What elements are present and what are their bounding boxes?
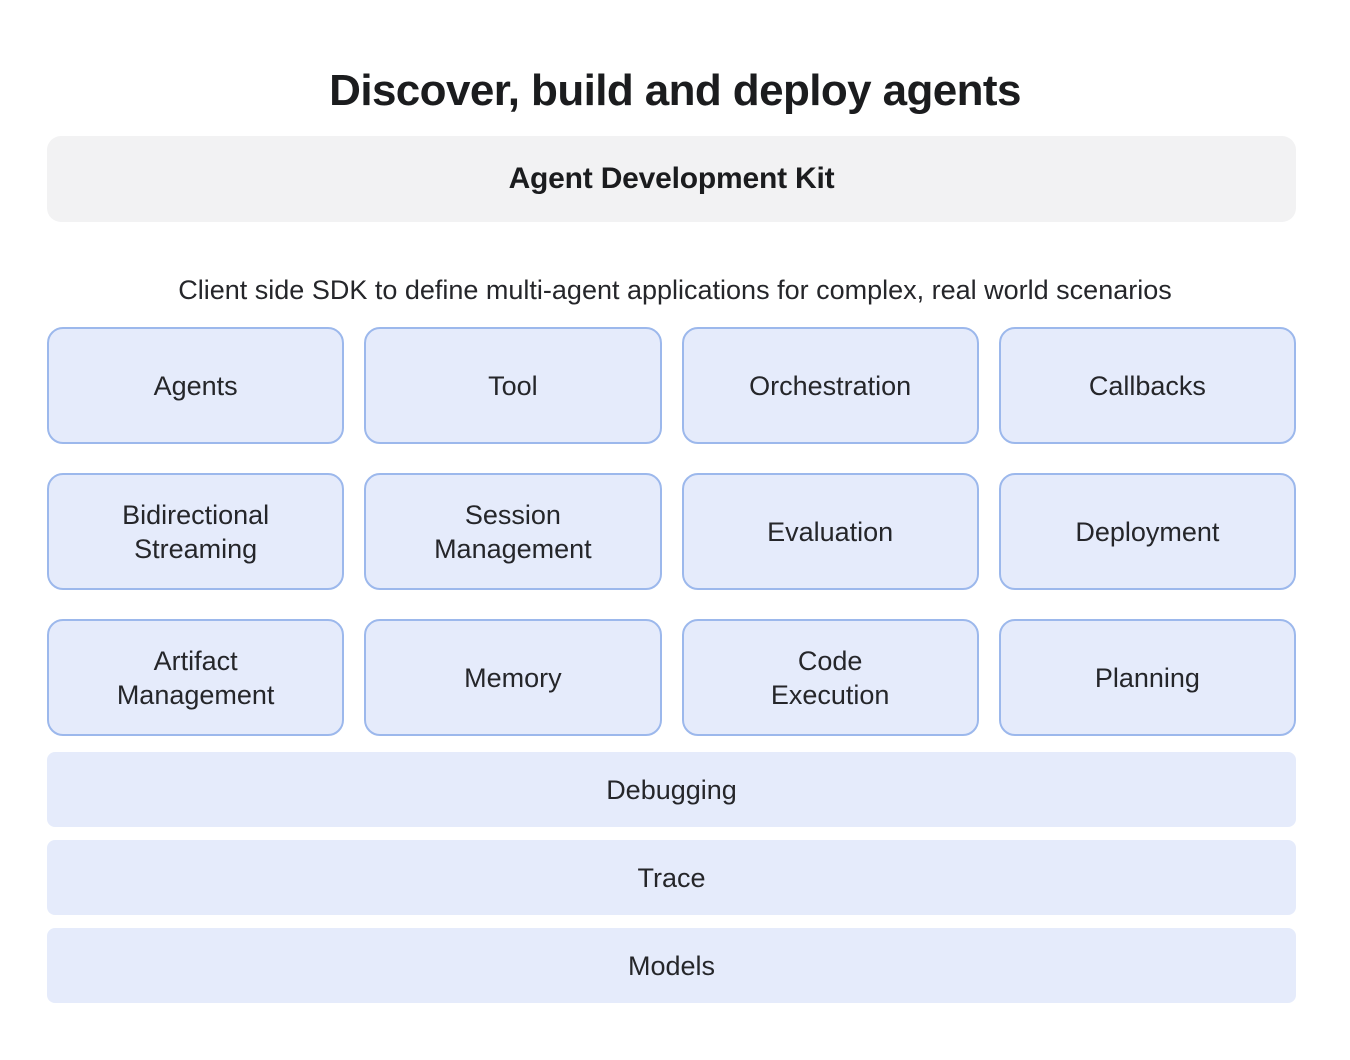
feature-card-label: Code Execution [771, 644, 890, 712]
feature-card[interactable]: Session Management [364, 473, 661, 590]
feature-card[interactable]: Memory [364, 619, 661, 736]
feature-card[interactable]: Code Execution [682, 619, 979, 736]
feature-card[interactable]: Orchestration [682, 327, 979, 444]
full-width-bar[interactable]: Debugging [47, 752, 1296, 827]
feature-card-label: Tool [488, 369, 538, 403]
feature-card[interactable]: Agents [47, 327, 344, 444]
feature-card-label: Artifact Management [117, 644, 275, 712]
feature-card-label: Deployment [1075, 515, 1219, 549]
feature-card-label: Planning [1095, 661, 1200, 695]
feature-card[interactable]: Tool [364, 327, 661, 444]
section-header-label: Agent Development Kit [509, 161, 835, 197]
feature-card-label: Bidirectional Streaming [122, 498, 269, 566]
full-width-bar-stack: Debugging Trace Models [47, 752, 1296, 1003]
adk-architecture-diagram: Discover, build and deploy agents Agent … [0, 0, 1350, 1060]
feature-card-label: Evaluation [767, 515, 893, 549]
feature-card[interactable]: Deployment [999, 473, 1296, 590]
feature-card[interactable]: Bidirectional Streaming [47, 473, 344, 590]
feature-card[interactable]: Planning [999, 619, 1296, 736]
feature-card-label: Orchestration [749, 369, 911, 403]
full-width-bar[interactable]: Models [47, 928, 1296, 1003]
feature-card[interactable]: Artifact Management [47, 619, 344, 736]
feature-card[interactable]: Evaluation [682, 473, 979, 590]
feature-card-label: Memory [464, 661, 562, 695]
full-width-bar-label: Debugging [606, 773, 737, 807]
full-width-bar-label: Trace [637, 861, 705, 895]
full-width-bar-label: Models [628, 949, 715, 983]
feature-card[interactable]: Callbacks [999, 327, 1296, 444]
section-subtitle: Client side SDK to define multi-agent ap… [0, 272, 1350, 308]
feature-card-label: Session Management [434, 498, 592, 566]
full-width-bar[interactable]: Trace [47, 840, 1296, 915]
feature-card-label: Agents [154, 369, 238, 403]
page-title: Discover, build and deploy agents [0, 63, 1350, 119]
feature-card-label: Callbacks [1089, 369, 1206, 403]
feature-card-grid: Agents Tool Orchestration Callbacks Bidi… [47, 327, 1296, 736]
section-header-bar: Agent Development Kit [47, 136, 1296, 222]
